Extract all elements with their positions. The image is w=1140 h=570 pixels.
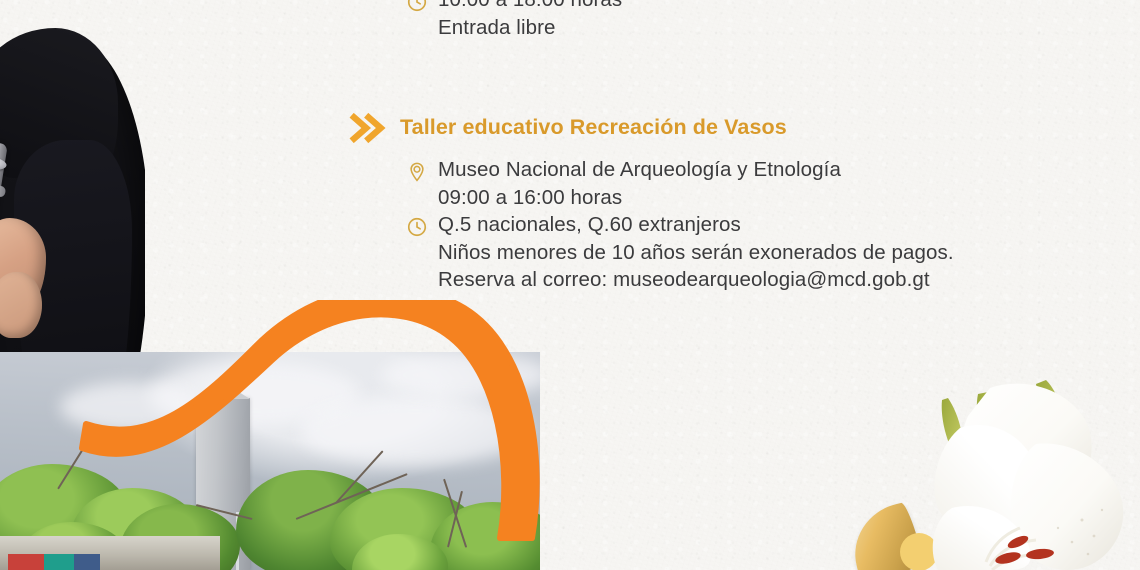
event-children-note-line: Niños menores de 10 años serán exonerado… xyxy=(406,239,1108,267)
event-venue-text: Museo Nacional de Arqueología y Etnologí… xyxy=(438,156,841,184)
map-pin-icon xyxy=(406,161,428,183)
event-title: Taller educativo Recreación de Vasos xyxy=(400,115,787,140)
double-chevron-right-icon xyxy=(348,108,388,148)
event-price-line: Q.5 nacionales, Q.60 extranjeros xyxy=(406,211,1108,239)
spacer-icon xyxy=(406,19,428,41)
event-hours-line: 09:00 a 16:00 horas xyxy=(406,184,1108,212)
top-info-block: 10:00 a 18:00 horas Entrada libre xyxy=(406,0,1066,41)
top-schedule-text: 10:00 a 18:00 horas xyxy=(438,0,622,14)
event-venue-line: Museo Nacional de Arqueología y Etnologí… xyxy=(406,156,1108,184)
clock-icon xyxy=(406,216,428,238)
spacer-icon xyxy=(406,244,428,266)
event-hours-text: 09:00 a 16:00 horas xyxy=(438,184,622,212)
event-block: Taller educativo Recreación de Vasos Mus… xyxy=(348,106,1108,294)
yellow-circle-accent xyxy=(900,533,938,570)
spacer-icon xyxy=(406,189,428,211)
event-children-note-text: Niños menores de 10 años serán exonerado… xyxy=(438,239,954,267)
poster-canvas: 10:00 a 18:00 horas Entrada libre Taller… xyxy=(0,0,1140,570)
event-reservation-text: Reserva al correo: museodearqueologia@mc… xyxy=(438,266,930,294)
event-details: Museo Nacional de Arqueología y Etnologí… xyxy=(406,156,1108,294)
spacer-icon xyxy=(406,271,428,293)
top-schedule-line: 10:00 a 18:00 horas xyxy=(406,0,1066,14)
event-price-text: Q.5 nacionales, Q.60 extranjeros xyxy=(438,211,741,239)
top-admission-line: Entrada libre xyxy=(406,14,1066,42)
clock-icon xyxy=(406,0,428,13)
top-admission-text: Entrada libre xyxy=(438,14,556,42)
event-reservation-line: Reserva al correo: museodearqueologia@mc… xyxy=(406,266,1108,294)
monument-photo xyxy=(0,352,540,570)
gold-leaf-accent-small xyxy=(958,538,994,570)
event-heading-row: Taller educativo Recreación de Vasos xyxy=(348,106,1108,148)
